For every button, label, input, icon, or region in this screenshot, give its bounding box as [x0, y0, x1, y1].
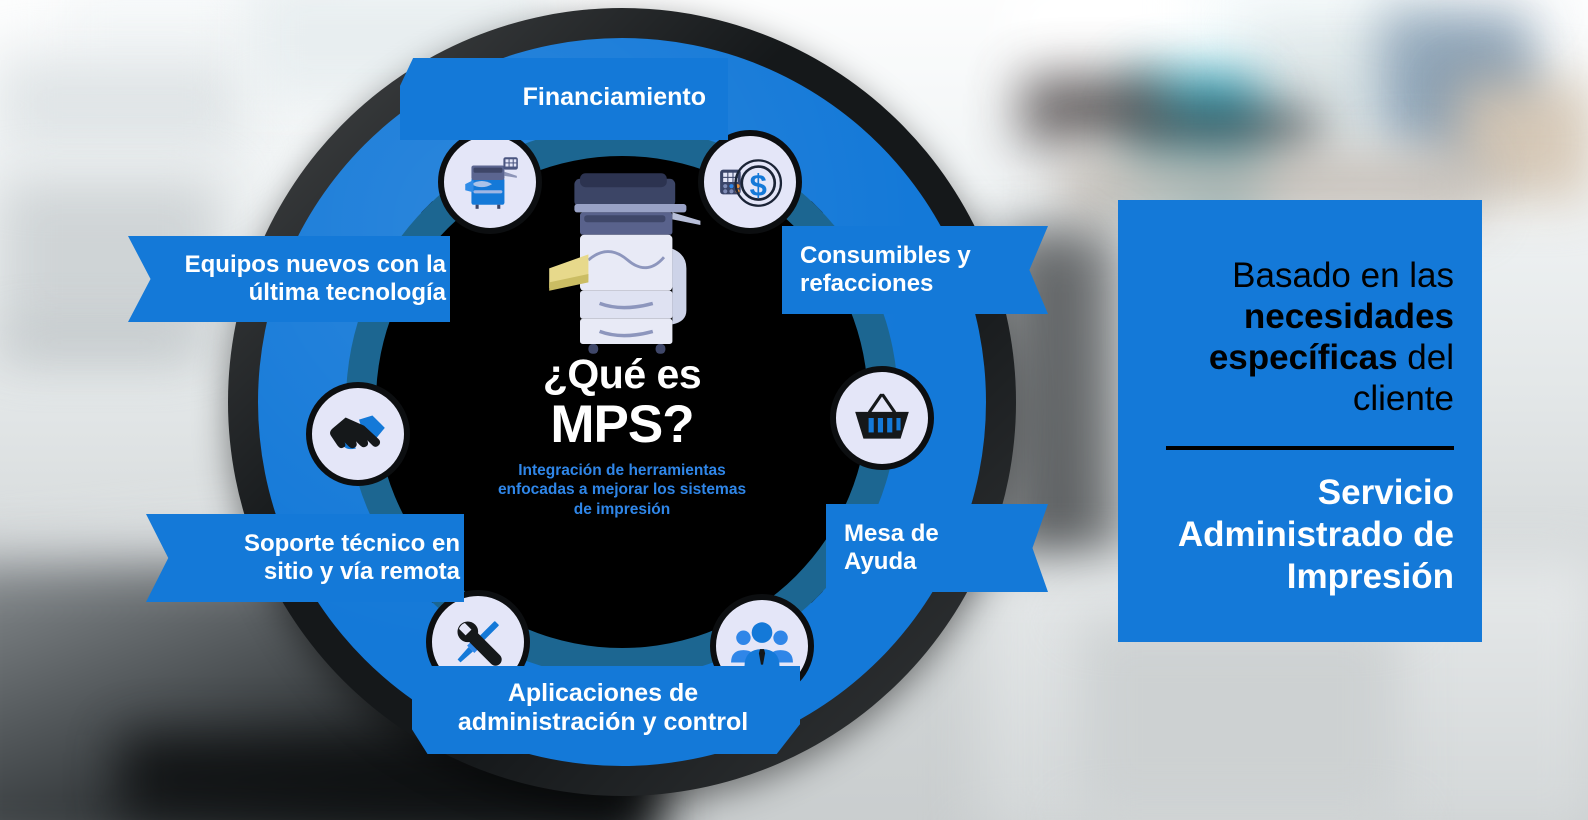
panel-divider [1166, 446, 1454, 450]
dollar-coin-icon[interactable]: $ [698, 130, 802, 234]
segment-label-financiamiento[interactable]: Financiamiento [400, 58, 728, 140]
printer-magnifier-icon[interactable] [438, 130, 542, 234]
segment-label-text: Aplicaciones de administración y control [446, 679, 760, 738]
center-description: Integración de herramientas enfocadas a … [492, 461, 752, 520]
svg-text:$: $ [750, 167, 767, 202]
panel-service-name: Servicio Administrado de Impresión [1146, 472, 1454, 598]
segment-label-soporte[interactable]: Soporte técnico en sitio y vía remota [146, 514, 464, 602]
shopping-basket-icon[interactable] [830, 366, 934, 470]
title-line-1: ¿Qué es [543, 354, 701, 395]
segment-label-text: Financiamiento [460, 83, 706, 113]
segment-label-text: Soporte técnico en sitio y vía remota [192, 530, 460, 587]
segment-label-equipos[interactable]: Equipos nuevos con la última tecnología [128, 236, 450, 322]
panel-headline-prefix: Basado en las [1232, 256, 1454, 295]
handshake-icon[interactable] [306, 382, 410, 486]
title-line-2: MPS? [550, 397, 693, 453]
panel-headline: Basado en las necesidades específicas de… [1146, 256, 1454, 420]
segment-label-mesa-ayuda[interactable]: Mesa de Ayuda [826, 504, 1048, 592]
segment-label-aplicaciones[interactable]: Aplicaciones de administración y control [412, 666, 800, 754]
segment-label-consumibles[interactable]: Consumibles y refacciones [782, 226, 1048, 314]
multifunction-printer-illustration [538, 162, 706, 358]
segment-label-text: Consumibles y refacciones [800, 242, 1002, 299]
segment-label-text: Equipos nuevos con la última tecnología [174, 251, 446, 308]
infographic-canvas: $ [0, 0, 1588, 820]
info-panel: Basado en las necesidades específicas de… [1118, 200, 1482, 642]
segment-label-text: Mesa de Ayuda [844, 520, 1002, 577]
